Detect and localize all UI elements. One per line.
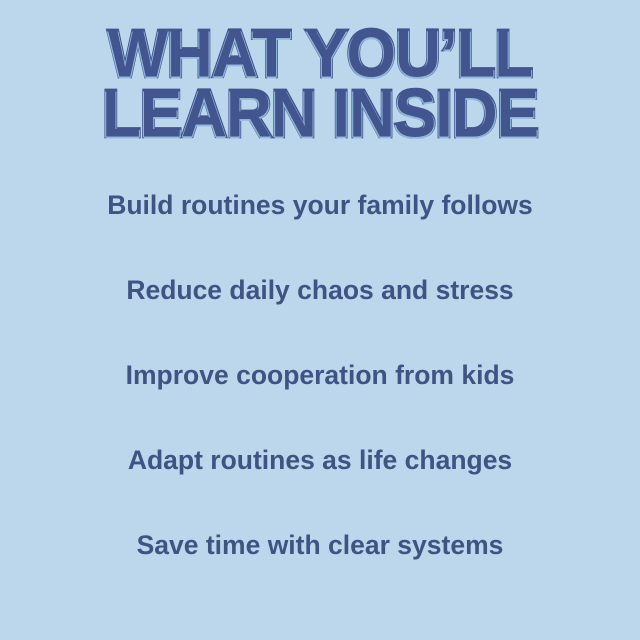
list-item: Reduce daily chaos and stress [0, 261, 640, 346]
benefit-list: Build routines your family follows Reduc… [0, 176, 640, 601]
list-item: Save time with clear systems [0, 516, 640, 601]
page-title: WHAT YOU’LL LEARN INSIDE [0, 26, 640, 136]
headline-line-2: LEARN INSIDE [0, 86, 640, 142]
headline-line-1: WHAT YOU’LL [0, 26, 640, 82]
list-item: Adapt routines as life changes [0, 431, 640, 516]
promo-slide: WHAT YOU’LL LEARN INSIDE Build routines … [0, 0, 640, 640]
list-item: Improve cooperation from kids [0, 346, 640, 431]
list-item: Build routines your family follows [0, 176, 640, 261]
